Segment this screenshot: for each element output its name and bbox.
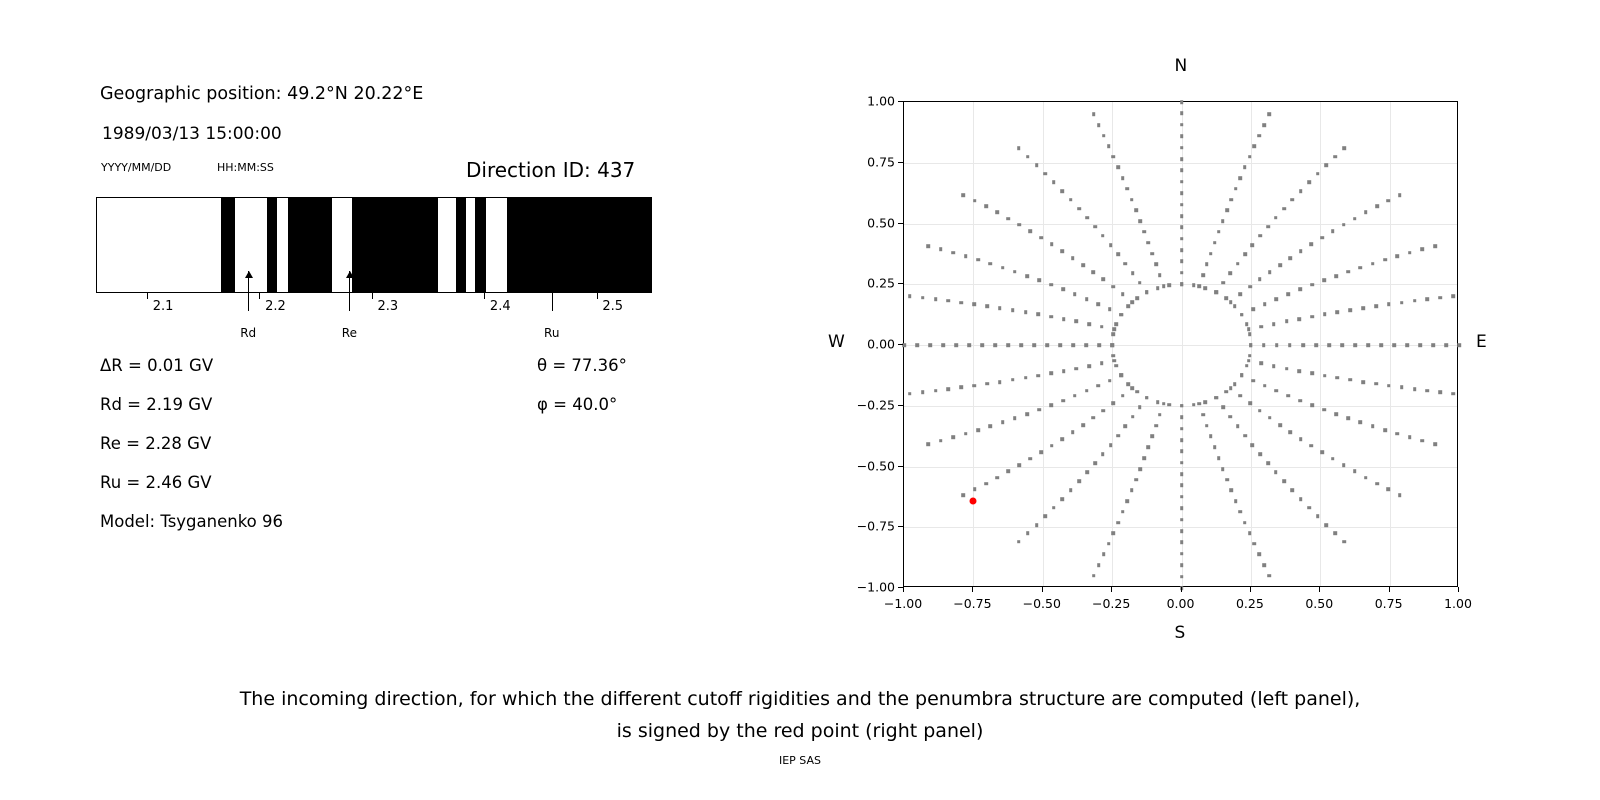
direction-point	[941, 343, 945, 347]
direction-point	[1353, 470, 1357, 474]
direction-point	[1379, 343, 1383, 347]
direction-point	[1285, 367, 1289, 371]
rigidity-marker-label: Rd	[240, 326, 256, 340]
direction-point	[1230, 198, 1234, 202]
direction-point	[1310, 372, 1314, 376]
direction-point	[1228, 415, 1232, 419]
rigidity-tick-label: 2.3	[378, 299, 399, 314]
direction-point	[1325, 523, 1329, 527]
compass-label-left: W	[828, 332, 845, 352]
direction-point	[1180, 191, 1184, 195]
direction-point	[1156, 286, 1160, 290]
direction-point	[1452, 294, 1456, 298]
direction-point	[908, 294, 912, 298]
direction-point	[1353, 343, 1357, 347]
direction-point	[1349, 378, 1353, 382]
direction-point	[1092, 113, 1096, 117]
direction-point	[1134, 209, 1138, 213]
direction-point	[1101, 409, 1105, 413]
gridline-horizontal	[904, 224, 1457, 225]
direction-point	[1364, 476, 1368, 480]
direction-point	[1361, 306, 1365, 310]
direction-point	[1214, 396, 1218, 400]
direction-point	[1052, 506, 1056, 510]
direction-point	[1097, 123, 1101, 127]
y-axis-tick-mark	[898, 223, 903, 224]
direction-point	[1093, 462, 1097, 466]
direction-point	[1217, 230, 1221, 234]
direction-point	[1282, 480, 1286, 484]
rigidity-tick-mark	[597, 293, 598, 299]
direction-point	[1359, 266, 1363, 270]
direction-point	[1400, 386, 1404, 390]
x-axis-tick-label: 0.25	[1236, 596, 1264, 611]
penumbra-forbidden-band	[507, 198, 652, 292]
direction-point	[1209, 252, 1213, 256]
direction-point	[1168, 403, 1172, 407]
direction-point	[1060, 249, 1064, 253]
direction-point	[1361, 380, 1365, 384]
direction-point	[1286, 292, 1290, 296]
direction-point	[1039, 451, 1043, 455]
direction-point	[1060, 437, 1064, 441]
direction-point	[985, 382, 989, 386]
direction-point	[1036, 374, 1040, 378]
direction-point	[1062, 317, 1066, 321]
direction-point	[1233, 304, 1237, 308]
direction-point	[976, 428, 980, 432]
direction-point	[1180, 495, 1184, 499]
direction-point	[1093, 225, 1097, 229]
direction-point	[1018, 463, 1022, 467]
direction-point	[951, 436, 955, 440]
y-axis-tick-label: 0.25	[867, 276, 895, 291]
direction-point	[1125, 499, 1129, 503]
direction-point	[1205, 263, 1209, 267]
x-axis-tick-mark	[1111, 587, 1112, 592]
compass-label-top: N	[1175, 56, 1188, 76]
direction-point	[1396, 254, 1400, 258]
direction-point	[1061, 497, 1065, 501]
direction-point	[1310, 283, 1314, 287]
direction-point	[1131, 415, 1135, 419]
direction-point	[960, 386, 964, 390]
direction-point	[1084, 343, 1088, 347]
x-axis-tick-mark	[1042, 587, 1043, 592]
rigidity-tick-mark	[372, 293, 373, 299]
direction-point	[1124, 424, 1128, 428]
direction-point	[1289, 256, 1293, 260]
direction-point	[1081, 263, 1085, 267]
direction-point	[1213, 445, 1217, 449]
direction-point	[1124, 262, 1128, 266]
direction-point	[1085, 471, 1089, 475]
direction-point	[1100, 362, 1104, 366]
x-axis-tick-label: 0.00	[1167, 596, 1195, 611]
gridline-vertical	[1182, 102, 1183, 586]
direction-point	[1240, 374, 1244, 378]
direction-point	[964, 432, 968, 436]
direction-point	[1150, 252, 1154, 256]
penumbra-forbidden-band	[475, 198, 486, 292]
parameter-line: Rd = 2.19 GV	[100, 395, 212, 414]
direction-point	[1275, 389, 1279, 393]
direction-point	[1158, 274, 1162, 278]
direction-point	[1343, 540, 1347, 544]
direction-point	[1116, 434, 1120, 438]
x-axis-tick-label: −0.25	[1092, 596, 1130, 611]
direction-point	[1316, 172, 1320, 176]
direction-point	[1248, 531, 1252, 535]
penumbra-forbidden-band	[221, 198, 235, 292]
direction-point	[1147, 445, 1151, 449]
rigidity-marker-label: Ru	[544, 326, 559, 340]
direction-point	[1180, 438, 1184, 442]
direction-point	[1346, 270, 1350, 274]
direction-point	[993, 343, 997, 347]
direction-point	[1323, 313, 1327, 317]
direction-point	[1257, 134, 1261, 138]
direction-point	[1392, 343, 1396, 347]
direction-point	[1180, 450, 1184, 454]
direction-point	[1071, 430, 1075, 434]
direction-point	[908, 392, 912, 396]
direction-point	[1236, 424, 1240, 428]
direction-point	[1203, 400, 1207, 404]
direction-point	[1075, 367, 1079, 371]
direction-point	[1111, 333, 1115, 337]
direction-point	[1013, 416, 1017, 420]
direction-point	[1238, 293, 1242, 297]
direction-point	[1314, 343, 1318, 347]
direction-point	[1217, 456, 1221, 460]
x-axis-tick-label: −1.00	[884, 596, 922, 611]
direction-point	[1073, 292, 1077, 296]
penumbra-forbidden-band	[352, 198, 439, 292]
figure-caption: The incoming direction, for which the di…	[0, 683, 1600, 747]
datetime-text: 1989/03/13 15:00:00	[102, 124, 282, 144]
direction-point	[1061, 399, 1065, 403]
direction-point	[1043, 172, 1047, 176]
rigidity-tick-mark	[484, 293, 485, 299]
direction-point	[1301, 343, 1305, 347]
direction-point	[1180, 404, 1184, 408]
parameter-line: Ru = 2.46 GV	[100, 473, 212, 492]
direction-point	[1111, 401, 1115, 405]
direction-point	[1336, 376, 1340, 380]
direction-point	[1433, 442, 1437, 446]
direction-point	[921, 390, 925, 394]
direction-point	[1087, 364, 1091, 368]
direction-point	[1085, 389, 1089, 393]
direction-point	[1205, 424, 1209, 428]
direction-point	[947, 299, 951, 303]
direction-point	[1011, 378, 1015, 382]
direction-point	[1115, 364, 1119, 368]
direction-point	[1320, 236, 1324, 240]
compass-label-bottom: S	[1175, 623, 1186, 643]
direction-point	[1239, 176, 1243, 180]
direction-point	[1032, 343, 1036, 347]
direction-point	[1071, 256, 1075, 260]
direction-point	[1247, 359, 1251, 363]
direction-point	[1150, 435, 1154, 439]
direction-point	[1113, 327, 1117, 331]
direction-point	[1113, 359, 1117, 363]
direction-point	[926, 442, 930, 446]
direction-point	[961, 493, 965, 497]
direction-point	[1017, 540, 1021, 544]
direction-point	[1180, 541, 1184, 545]
direction-point	[1262, 343, 1266, 347]
direction-point	[1282, 207, 1286, 211]
direction-point	[1290, 488, 1294, 492]
direction-point	[1247, 327, 1251, 331]
direction-point	[984, 205, 988, 209]
direction-point	[1061, 189, 1065, 193]
y-axis-tick-mark	[898, 344, 903, 345]
direction-point	[998, 380, 1002, 384]
direction-point	[1121, 293, 1125, 297]
geographic-position-text: Geographic position: 49.2°N 20.22°E	[100, 84, 423, 104]
direction-point	[1431, 343, 1435, 347]
parameter-line: Re = 2.28 GV	[100, 434, 211, 453]
direction-point	[1248, 285, 1252, 289]
direction-point	[1011, 308, 1015, 312]
direction-point	[1180, 203, 1184, 207]
gridline-horizontal	[904, 467, 1457, 468]
direction-point	[1039, 236, 1043, 240]
penumbra-forbidden-band	[456, 198, 466, 292]
direction-point	[1334, 412, 1338, 416]
x-axis-tick-mark	[1319, 587, 1320, 592]
direction-point	[1201, 274, 1205, 278]
direction-point	[1158, 413, 1162, 417]
direction-point	[1201, 413, 1205, 417]
direction-point	[1221, 281, 1225, 285]
direction-point	[1396, 432, 1400, 436]
direction-point	[1259, 325, 1263, 329]
direction-point	[1336, 310, 1340, 314]
direction-point	[1180, 427, 1184, 431]
direction-point	[939, 247, 943, 251]
direction-point	[1115, 322, 1119, 326]
rigidity-marker-rd-arrow-icon	[248, 271, 249, 311]
direction-point	[1180, 157, 1184, 161]
direction-point	[1387, 303, 1391, 307]
gridline-horizontal	[904, 163, 1457, 164]
direction-point	[1289, 430, 1293, 434]
direction-point	[989, 424, 993, 428]
direction-point	[1257, 553, 1261, 557]
direction-point	[1147, 241, 1151, 245]
direction-point	[947, 387, 951, 391]
direction-point	[1439, 296, 1443, 300]
direction-point	[1272, 322, 1276, 326]
direction-point	[1248, 155, 1252, 159]
direction-point	[1258, 278, 1262, 282]
direction-point	[1131, 386, 1135, 390]
direction-point	[1275, 343, 1279, 347]
direction-point	[1075, 320, 1079, 324]
direction-point	[1116, 521, 1120, 525]
direction-point	[998, 306, 1002, 310]
direction-point	[1154, 424, 1158, 428]
direction-point	[1180, 484, 1184, 488]
direction-point	[1180, 169, 1184, 173]
x-axis-tick-label: −0.75	[953, 596, 991, 611]
direction-point	[1316, 515, 1320, 519]
direction-point	[1017, 146, 1021, 150]
direction-point	[1375, 205, 1379, 209]
direction-point	[1102, 553, 1106, 557]
gridline-horizontal	[904, 527, 1457, 528]
direction-point	[989, 262, 993, 266]
direction-point	[1180, 112, 1184, 116]
rigidity-axis: 2.12.22.32.42.5RdReRu	[96, 293, 652, 353]
direction-point	[1359, 421, 1363, 425]
parameter-line: Model: Tsyganenko 96	[100, 512, 283, 531]
x-axis-tick-label: 0.75	[1375, 596, 1403, 611]
direction-point	[1398, 193, 1402, 197]
direction-point	[1180, 100, 1184, 104]
direction-point	[1024, 376, 1028, 380]
direction-point	[1026, 532, 1030, 536]
direction-point	[1069, 488, 1073, 492]
x-axis-tick-mark	[972, 587, 973, 592]
direction-point	[1180, 123, 1184, 127]
direction-point	[1007, 217, 1011, 221]
direction-point	[1230, 489, 1234, 493]
direction-point	[1138, 219, 1142, 223]
rigidity-marker-re-arrow-icon	[349, 271, 350, 311]
y-axis-tick-label: 1.00	[867, 94, 895, 109]
direction-point	[1058, 343, 1062, 347]
direction-point	[1413, 387, 1417, 391]
x-axis-tick-label: 0.50	[1305, 596, 1333, 611]
direction-point	[1180, 461, 1184, 465]
direction-point	[1239, 510, 1243, 514]
direction-point	[1243, 521, 1247, 525]
direction-point	[1116, 253, 1120, 257]
direction-point	[1120, 374, 1124, 378]
rigidity-marker-ru-arrow-icon	[552, 271, 553, 311]
direction-point	[1322, 408, 1326, 412]
direction-point	[1248, 354, 1252, 358]
direction-point	[1221, 405, 1225, 409]
direction-point	[1457, 343, 1461, 347]
direction-point	[1258, 234, 1262, 238]
direction-point	[1036, 313, 1040, 317]
direction-point	[1180, 237, 1184, 241]
direction-point	[1366, 343, 1370, 347]
direction-point	[1325, 163, 1329, 167]
direction-point	[1290, 198, 1294, 202]
direction-point	[1421, 439, 1425, 443]
selected-direction-point[interactable]	[970, 497, 977, 504]
direction-point	[1251, 443, 1255, 447]
direction-point	[1421, 247, 1425, 251]
direction-point	[1298, 288, 1302, 292]
direction-point	[1180, 282, 1184, 286]
direction-point	[1224, 297, 1228, 301]
direction-point	[1342, 463, 1346, 467]
direction-point	[1180, 146, 1184, 150]
direction-point	[1248, 333, 1252, 337]
parameter-line: ΔR = 0.01 GV	[100, 356, 213, 375]
direction-point	[1049, 403, 1053, 407]
direction-point	[1018, 223, 1022, 227]
direction-point	[1299, 189, 1303, 193]
caption-line-1: The incoming direction, for which the di…	[0, 683, 1600, 715]
rigidity-tick-mark	[147, 293, 148, 299]
direction-point	[1307, 180, 1311, 184]
direction-point	[1221, 219, 1225, 223]
y-axis-tick-label: −1.00	[857, 580, 895, 595]
direction-point	[1028, 457, 1032, 461]
rigidity-tick-label: 2.5	[602, 299, 623, 314]
direction-point	[1019, 343, 1023, 347]
direction-point	[972, 303, 976, 307]
direction-point	[1180, 552, 1184, 556]
direction-point	[934, 389, 938, 393]
direction-point	[1346, 416, 1350, 420]
direction-point	[1135, 297, 1139, 301]
direction-point	[1077, 207, 1081, 211]
direction-point	[1309, 242, 1313, 246]
direction-point	[1101, 234, 1105, 238]
direction-point	[1100, 325, 1104, 329]
caption-line-2: is signed by the red point (right panel)	[0, 715, 1600, 747]
direction-point	[1310, 403, 1314, 407]
direction-point	[1097, 563, 1101, 567]
direction-point	[1297, 369, 1301, 373]
direction-point	[1278, 263, 1282, 267]
direction-point	[1162, 402, 1166, 406]
penumbra-structure-bar	[96, 197, 652, 293]
direction-point	[1069, 198, 1073, 202]
direction-point	[1236, 262, 1240, 266]
direction-point	[1383, 258, 1387, 262]
rigidity-tick-label: 2.2	[265, 299, 286, 314]
direction-point	[1127, 382, 1131, 386]
direction-point	[1387, 384, 1391, 388]
direction-point	[972, 384, 976, 388]
direction-point	[954, 343, 958, 347]
direction-point	[1408, 436, 1412, 440]
gridline-vertical	[1390, 102, 1391, 586]
x-axis-tick-mark	[903, 587, 904, 592]
direction-point	[1168, 283, 1172, 287]
direction-point	[1323, 374, 1327, 378]
direction-point	[1203, 286, 1207, 290]
direction-point	[1135, 390, 1139, 394]
date-format-hint: YYYY/MM/DD	[101, 161, 171, 174]
direction-point	[1049, 283, 1053, 287]
direction-point	[1102, 134, 1106, 138]
direction-point	[1085, 216, 1089, 220]
direction-point	[1037, 408, 1041, 412]
direction-point	[1180, 529, 1184, 533]
direction-point	[1162, 285, 1166, 289]
direction-point	[1061, 288, 1065, 292]
y-axis-tick-mark	[898, 162, 903, 163]
direction-point	[1025, 412, 1029, 416]
direction-point	[1107, 144, 1111, 148]
direction-point	[1299, 249, 1303, 253]
direction-point	[1253, 144, 1257, 148]
direction-point	[1331, 457, 1335, 461]
